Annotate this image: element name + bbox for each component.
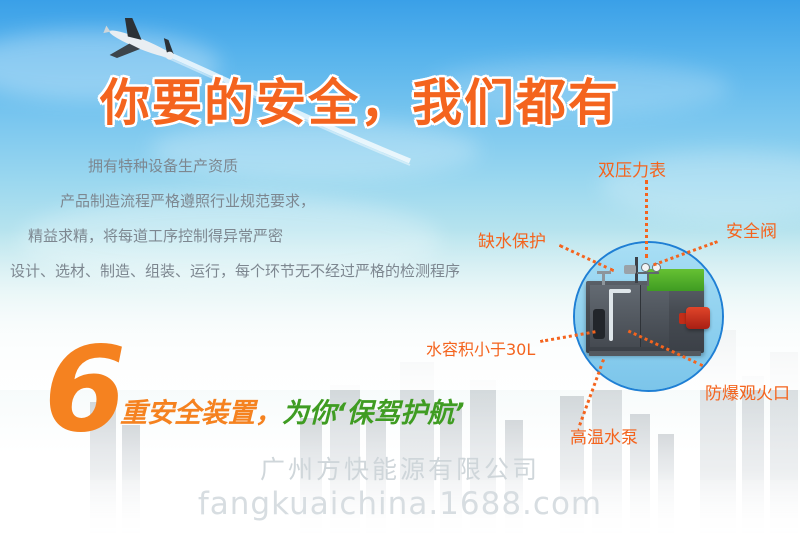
top-valve <box>624 265 636 274</box>
pipe-horizontal <box>609 289 631 293</box>
body-line: 精益求精，将每道工序控制得异常严密 <box>0 220 430 255</box>
watermark-site: fangkuaichina.1688.com <box>0 486 800 522</box>
water-pump <box>593 309 605 339</box>
body-line: 拥有特种设备生产资质 <box>0 150 430 185</box>
slogan: 重安全装置，为你‘保驾护航’ <box>120 400 465 427</box>
hand-valve-stem <box>602 271 605 285</box>
callout-explosion-proof-sight-port: 防爆观火口 <box>705 379 790 404</box>
slogan-green-part: 为你‘保驾护航’ <box>282 398 465 429</box>
body-line: 设计、选材、制造、组装、运行，每个环节无不经过严格的检测程序 <box>0 255 430 290</box>
pipe-vertical <box>609 289 613 341</box>
body-copy: 拥有特种设备生产资质 产品制造流程严格遵照行业规范要求， 精益求精，将每道工序控… <box>0 150 430 290</box>
slogan-orange-part: 重安全装置， <box>120 398 282 429</box>
callout-dual-pressure-gauge: 双压力表 <box>598 156 666 181</box>
gauge-stem <box>647 274 649 286</box>
callout-water-volume: 水容积小于30L <box>426 336 535 360</box>
leader-line-dual-pressure <box>645 180 648 258</box>
feature-count-numeral: 6 <box>44 330 124 448</box>
callout-safety-valve: 安全阀 <box>726 217 777 242</box>
page-title: 你要的安全，我们都有 <box>100 63 620 135</box>
burner-unit <box>686 307 710 329</box>
callout-high-temp-pump: 高温水泵 <box>570 423 638 448</box>
callout-low-water-protection: 缺水保护 <box>478 227 546 252</box>
body-line: 产品制造流程严格遵照行业规范要求， <box>0 185 430 220</box>
pressure-gauge-icon <box>641 263 650 272</box>
watermark-company: 广州方快能源有限公司 <box>0 450 800 486</box>
promo-poster: 你要的安全，我们都有 拥有特种设备生产资质 产品制造流程严格遵照行业规范要求， … <box>0 0 800 540</box>
